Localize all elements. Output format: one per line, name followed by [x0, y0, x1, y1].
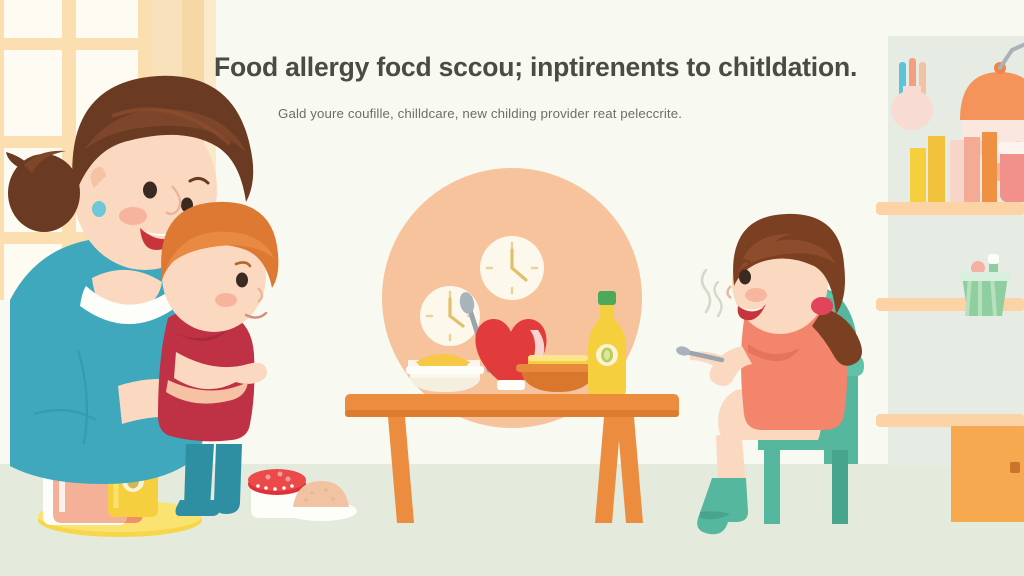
- chair-leg-back: [832, 450, 848, 524]
- shelf-plank-top: [876, 202, 1024, 215]
- page-subtitle: Gald youre coufille, chilldcare, new chi…: [278, 106, 838, 121]
- orange-cabinet: [951, 426, 1024, 522]
- kitchen-shelf-unit: [876, 36, 1024, 522]
- wall-clock-upper: [480, 236, 544, 300]
- page-title: Food allergy focd sccou; inptirenents to…: [214, 52, 874, 82]
- pink-jar: [997, 132, 1024, 202]
- chair-leg-front: [764, 450, 780, 524]
- hair-tie: [811, 297, 833, 315]
- boy-eye: [236, 273, 248, 288]
- shelf-plank-bottom: [876, 414, 1024, 427]
- girl-eye: [739, 270, 751, 285]
- scene-background: [0, 0, 1024, 576]
- mother-eye-left: [143, 182, 157, 199]
- illustration-scene: Food allergy focd sccou; inptirenents to…: [0, 0, 1024, 576]
